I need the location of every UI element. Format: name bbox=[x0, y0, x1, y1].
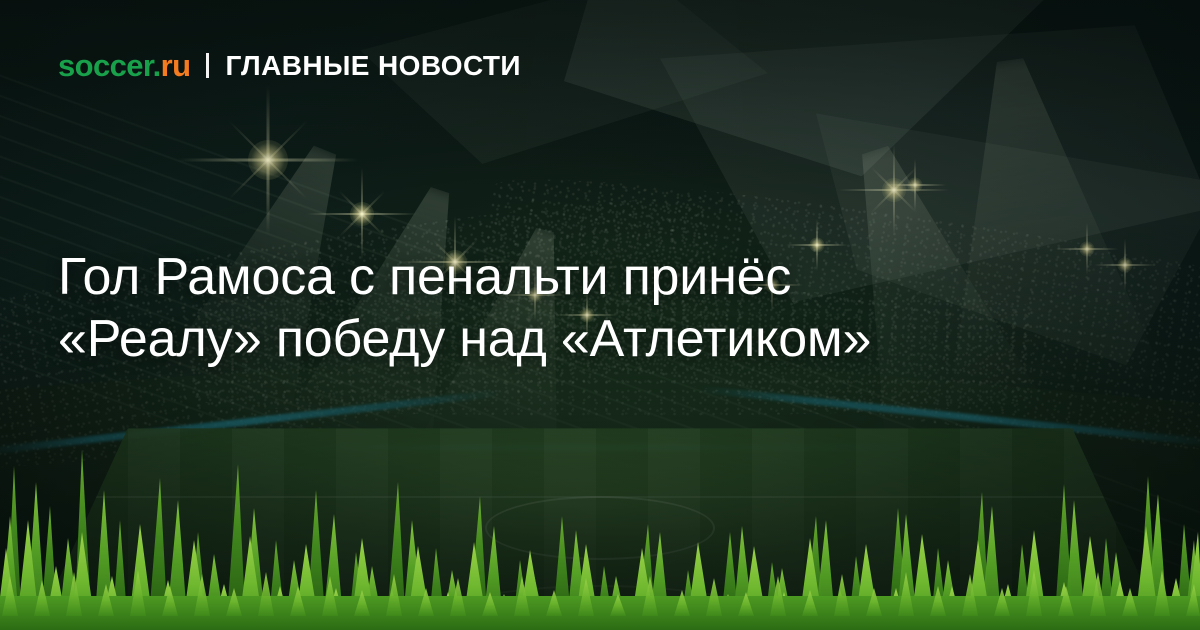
header-divider-icon bbox=[206, 53, 209, 78]
news-share-card: soccer.ru ГЛАВНЫЕ НОВОСТИ Гол Рамоса с п… bbox=[0, 0, 1200, 630]
headline-line-1: Гол Рамоса с пенальти принёс bbox=[58, 246, 1088, 308]
header-kicker: ГЛАВНЫЕ НОВОСТИ bbox=[225, 52, 520, 80]
headline-line-2: «Реалу» победу над «Атлетиком» bbox=[58, 308, 1088, 370]
logo-dot: . bbox=[153, 48, 161, 83]
grass-base-mat bbox=[0, 596, 1200, 630]
soccer-ru-logo[interactable]: soccer.ru bbox=[58, 50, 190, 81]
page-title: Гол Рамоса с пенальти принёс «Реалу» поб… bbox=[58, 246, 1088, 371]
logo-tld-text: ru bbox=[161, 48, 191, 83]
grass-foreground bbox=[0, 420, 1200, 630]
logo-primary-text: soccer bbox=[58, 48, 153, 83]
card-header: soccer.ru ГЛАВНЫЕ НОВОСТИ bbox=[58, 50, 521, 81]
